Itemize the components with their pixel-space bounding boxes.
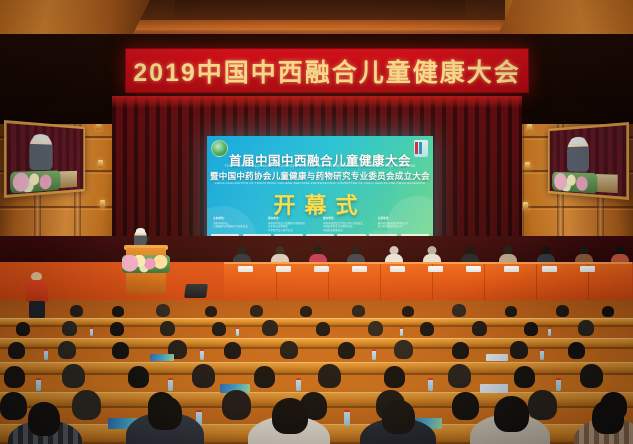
curtain-top-light: [112, 96, 522, 108]
conference-banner: 2019中国中西融合儿童健康大会: [125, 48, 529, 93]
wall-sconce-icon: [100, 200, 105, 208]
wall-sconce-icon: [523, 202, 528, 210]
banner-title: 2019中国中西融合儿童健康大会: [133, 53, 521, 89]
desk-row: [0, 338, 633, 349]
left-projection-screen: [4, 120, 85, 198]
led-headline-en: THE FIRST CHILD HEALTH CONFERENCE ON THE…: [207, 164, 433, 168]
ceiling-center-panel: [175, 0, 465, 22]
head-table: [224, 262, 632, 304]
wall-sconce-icon: [527, 124, 532, 132]
speaker-hair: [136, 228, 145, 233]
stage-monitor-speaker: [184, 284, 208, 298]
aisle-staff: [26, 272, 48, 318]
podium-flower-arrangement: [122, 255, 170, 273]
auditorium-scene: 2019中国中西融合儿童健康大会 首届中国中西融合儿童健康大会 THE FIRS…: [0, 0, 633, 444]
right-projection-screen: [548, 122, 629, 200]
wall-sconce-icon: [525, 162, 530, 170]
led-subhead-en: CHINA ASSOCIATION OF TRADITIONAL CHINESE…: [207, 181, 433, 185]
desk-row: [0, 362, 633, 375]
seated-audience: [0, 300, 633, 444]
wall-sconce-icon: [98, 160, 103, 168]
